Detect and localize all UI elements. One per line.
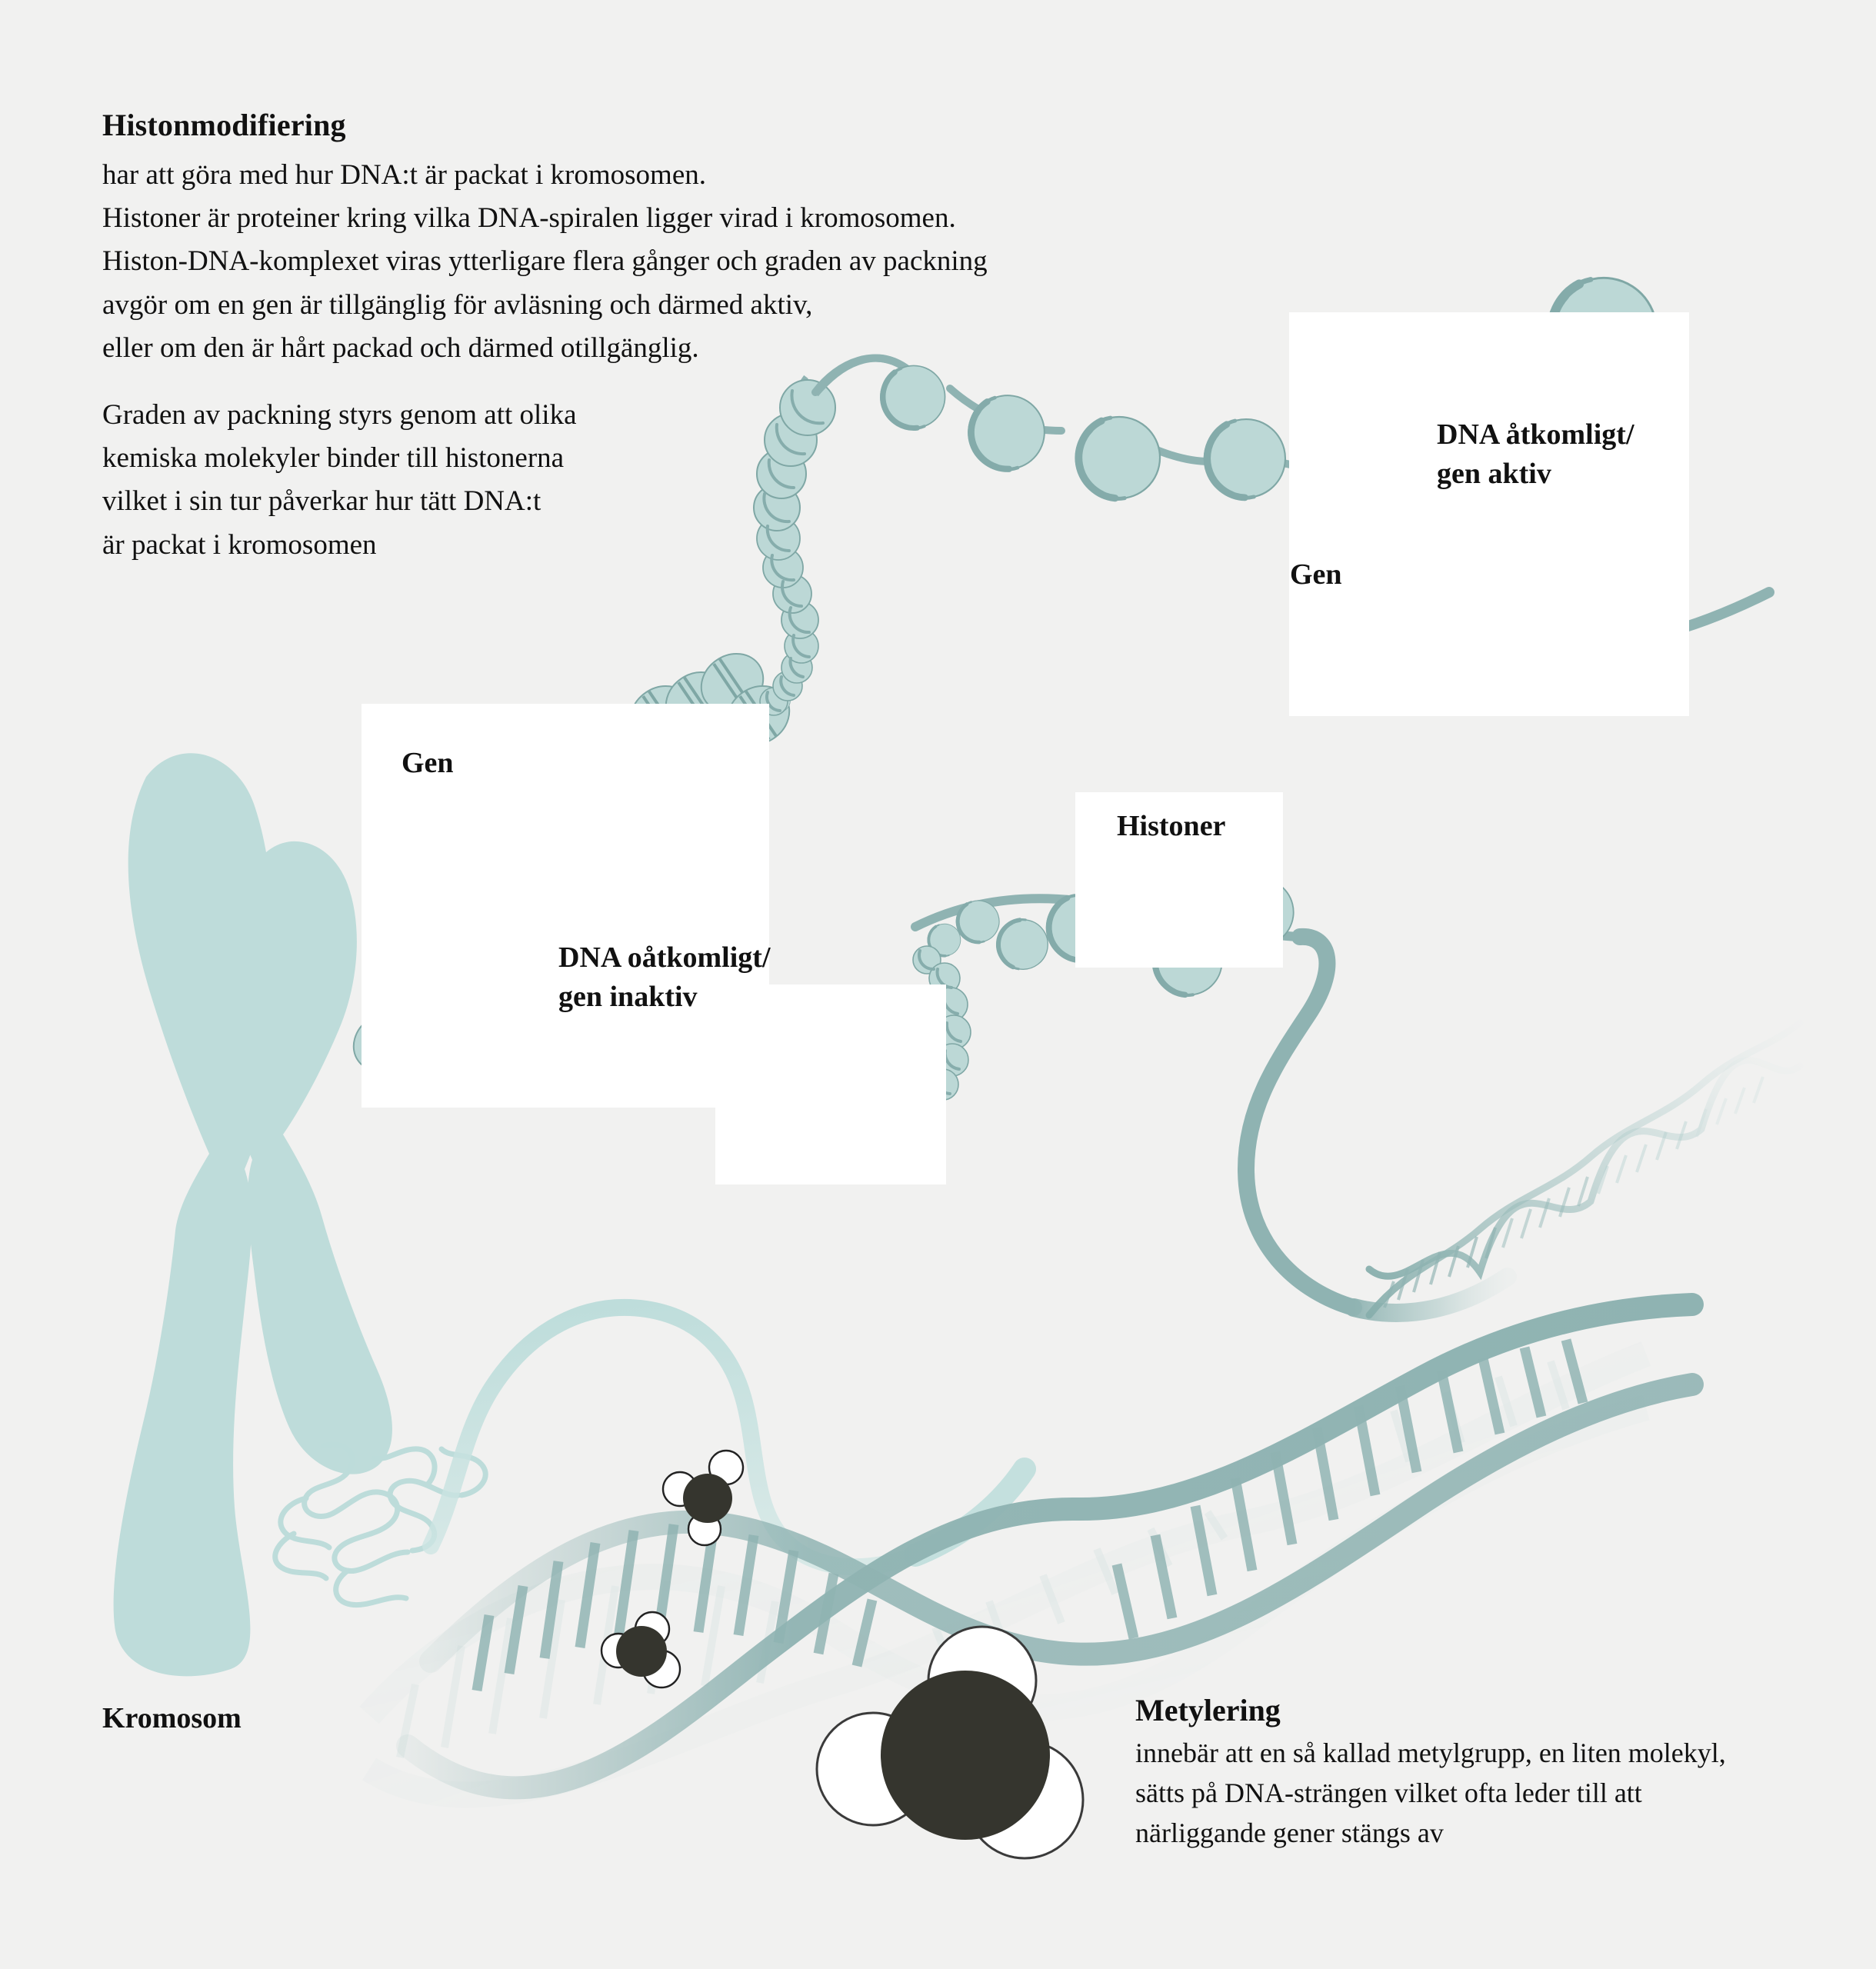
intro-line-1: har att göra med hur DNA:t är packat i k… bbox=[102, 154, 988, 197]
label-dna-atkomligt: DNA åtkomligt/ gen aktiv bbox=[1437, 415, 1634, 493]
label-dna-oatkomligt-line1: DNA oåtkomligt/ bbox=[558, 938, 771, 978]
secondary-line-1: Graden av packning styrs genom att olika bbox=[102, 394, 577, 437]
secondary-line-3: vilket i sin tur påverkar hur tätt DNA:t bbox=[102, 480, 577, 523]
plate-gen-aktiv bbox=[1289, 312, 1689, 716]
methylation-text-block: Metylering innebär att en så kallad mety… bbox=[1135, 1692, 1726, 1854]
label-dna-atkomligt-line2: gen aktiv bbox=[1437, 455, 1634, 494]
methylation-line-3: närliggande gener stängs av bbox=[1135, 1813, 1726, 1853]
secondary-line-4: är packat i kromosomen bbox=[102, 524, 577, 567]
methylation-line-2: sätts på DNA-strängen vilket ofta leder … bbox=[1135, 1773, 1726, 1813]
secondary-line-2: kemiska molekyler binder till histonerna bbox=[102, 437, 577, 480]
intro-line-3: Histon-DNA-komplexet viras ytterligare f… bbox=[102, 240, 988, 283]
label-gen-active: Gen bbox=[1290, 558, 1342, 591]
intro-line-2: Histoner är proteiner kring vilka DNA-sp… bbox=[102, 197, 988, 240]
intro-line-5: eller om den är hårt packad och därmed o… bbox=[102, 327, 988, 370]
chromosome-shape bbox=[114, 753, 392, 1676]
secondary-text-block: Graden av packning styrs genom att olika… bbox=[102, 394, 577, 567]
label-histoner: Histoner bbox=[1117, 809, 1225, 843]
label-dna-atkomligt-line1: DNA åtkomligt/ bbox=[1437, 415, 1634, 455]
label-kromosom: Kromosom bbox=[102, 1701, 242, 1735]
label-dna-oatkomligt: DNA oåtkomligt/ gen inaktiv bbox=[558, 938, 771, 1016]
infographic-canvas: Histonmodifiering har att göra med hur D… bbox=[0, 0, 1876, 1969]
nucleosome-chain-left bbox=[754, 377, 835, 715]
intro-text-block: Histonmodifiering har att göra med hur D… bbox=[102, 108, 988, 370]
label-dna-oatkomligt-line2: gen inaktiv bbox=[558, 978, 771, 1017]
methylation-heading: Metylering bbox=[1135, 1692, 1726, 1728]
methylation-line-1: innebär att en så kallad metylgrupp, en … bbox=[1135, 1733, 1726, 1773]
intro-line-4: avgör om en gen är tillgänglig för avläs… bbox=[102, 284, 988, 327]
intro-heading: Histonmodifiering bbox=[102, 108, 988, 143]
label-gen-inactive: Gen bbox=[402, 746, 454, 780]
thin-dna-helix bbox=[1369, 1023, 1800, 1315]
